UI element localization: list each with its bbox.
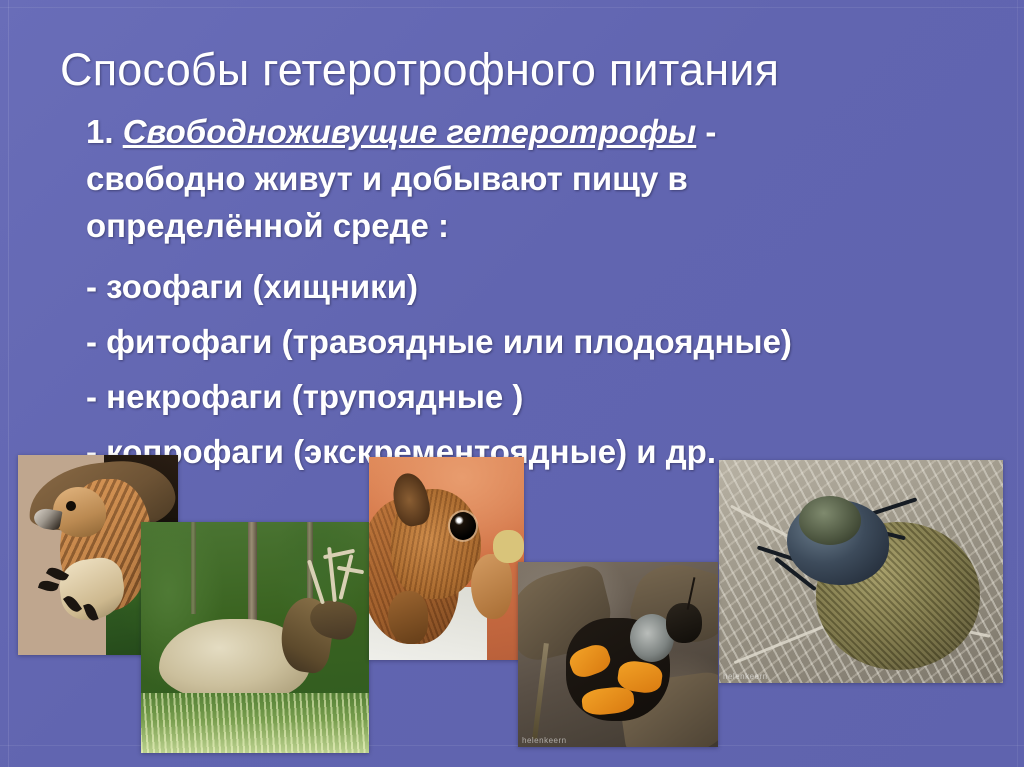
- list-number: 1.: [86, 113, 114, 150]
- hawk-eye: [66, 501, 76, 511]
- slide-title: Способы гетеротрофного питания: [60, 44, 960, 96]
- deer-antler: [338, 555, 353, 601]
- deer-antler: [337, 566, 365, 575]
- dung-beetle-scene: [719, 460, 1003, 683]
- slide-root: Способы гетеротрофного питания 1. Свобод…: [0, 0, 1024, 767]
- photo-deer: [141, 522, 369, 753]
- slide-body: 1. Свободноживущие гетеротрофы - свободн…: [86, 108, 986, 483]
- carrion-beetle-scene: [518, 562, 718, 747]
- frame-line-right: [1017, 0, 1018, 767]
- squirrel-food-nut: [493, 530, 524, 562]
- definition-line-2: определённой среде :: [86, 202, 986, 249]
- category-list: - зоофаги (хищники) - фитофаги (травоядн…: [86, 263, 986, 475]
- emphasis-term: Свободноживущие гетеротрофы: [123, 113, 697, 150]
- photo-carrion-beetle: helenkeern: [518, 562, 718, 747]
- squirrel-snout: [471, 554, 511, 619]
- squirrel-paw: [388, 591, 428, 644]
- definition-line-1: свободно живут и добывают пищу в: [86, 155, 986, 202]
- frame-line-left: [8, 0, 9, 767]
- frame-line-top: [0, 7, 1024, 8]
- definition-heading-line: 1. Свободноживущие гетеротрофы -: [86, 108, 986, 155]
- deer-grass: [141, 693, 369, 753]
- list-item-phytophages: - фитофаги (травоядные или плодоядные): [86, 318, 986, 365]
- hawk-talon: [38, 578, 59, 593]
- carrion-beetle-head: [666, 603, 702, 644]
- photo-squirrel: [369, 457, 524, 660]
- list-item-necrophages: - некрофаги (трупоядные ): [86, 373, 986, 420]
- dash-separator: -: [705, 113, 716, 150]
- squirrel-scene: [369, 457, 524, 660]
- dung-beetle-head: [799, 496, 861, 545]
- deer-scene: [141, 522, 369, 753]
- list-item-zoophages: - зоофаги (хищники): [86, 263, 986, 310]
- squirrel-eye: [450, 512, 476, 540]
- hawk-beak: [32, 507, 62, 531]
- photo-dung-beetle: helenkeern: [719, 460, 1003, 683]
- tree-trunk: [191, 522, 196, 614]
